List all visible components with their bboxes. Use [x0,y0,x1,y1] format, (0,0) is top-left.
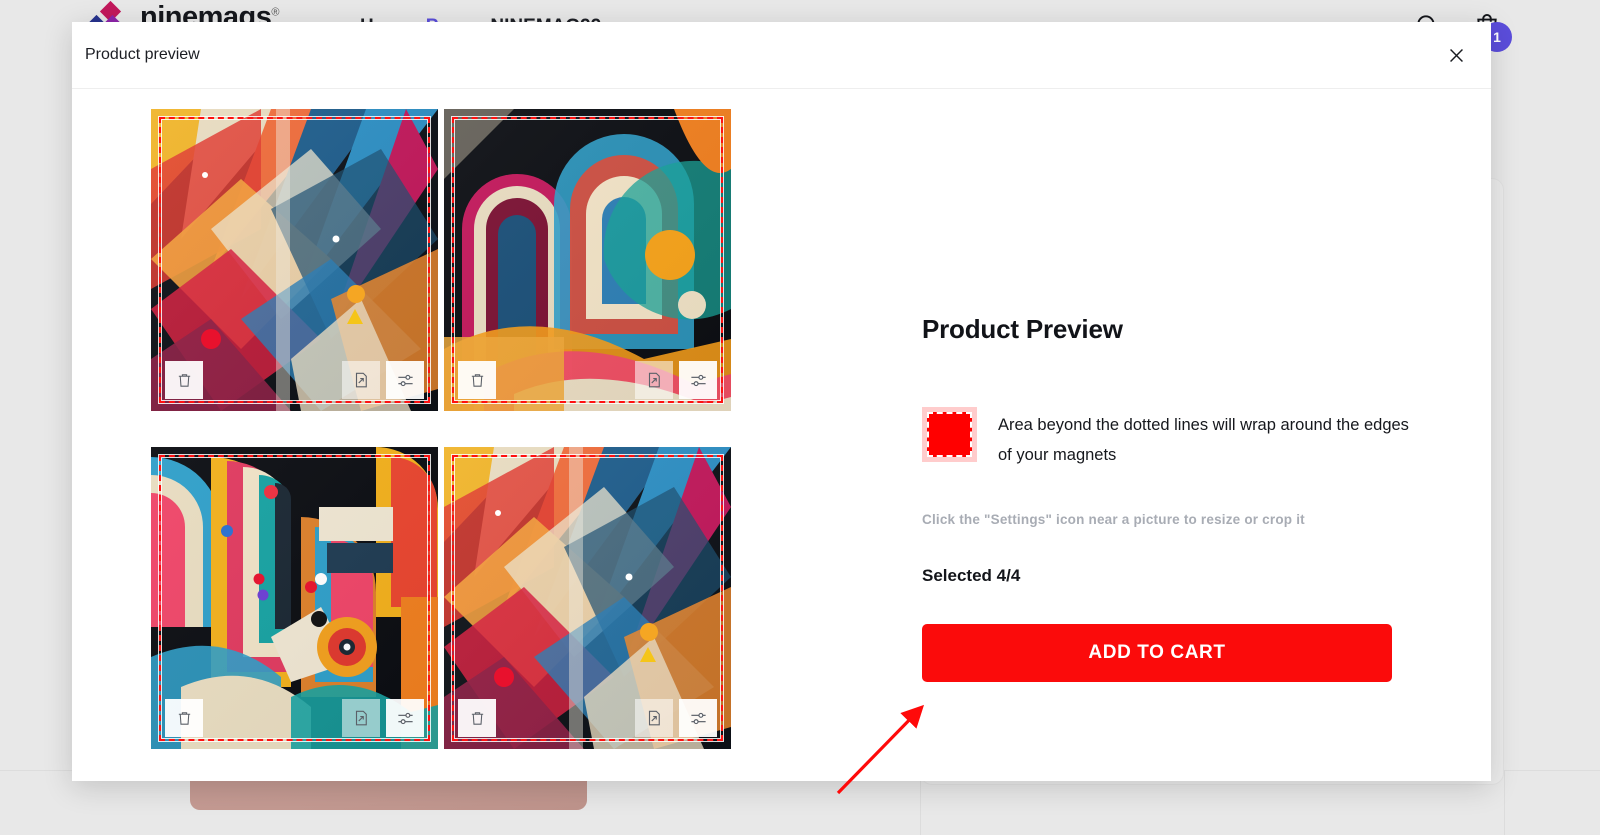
add-to-cart-button[interactable]: ADD TO CART [922,624,1392,682]
replace-image-icon[interactable] [635,699,673,737]
delete-icon[interactable] [165,699,203,737]
replace-image-icon[interactable] [635,361,673,399]
product-preview-modal: Product preview [72,22,1491,781]
replace-image-icon[interactable] [342,699,380,737]
bleed-color-swatch [922,407,977,462]
delete-icon[interactable] [165,361,203,399]
registered-mark: ® [271,6,279,18]
tile-tools-1 [151,361,438,399]
settings-sliders-icon[interactable] [386,361,424,399]
delete-icon[interactable] [458,699,496,737]
settings-sliders-icon[interactable] [386,699,424,737]
bleed-note-text: Area beyond the dotted lines will wrap a… [998,407,1418,470]
selected-count: Selected 4/4 [922,566,1422,586]
bleed-note: Area beyond the dotted lines will wrap a… [922,407,1422,470]
modal-body: Product Preview Area beyond the dotted l… [72,89,1491,781]
settings-hint: Click the "Settings" icon near a picture… [922,512,1422,527]
modal-title: Product preview [85,46,200,64]
magnet-preview-4[interactable] [444,447,731,749]
tile-tools-4 [444,699,731,737]
magnet-preview-1[interactable] [151,109,438,411]
close-icon[interactable] [1441,40,1471,70]
delete-icon[interactable] [458,361,496,399]
tile-tools-3 [151,699,438,737]
settings-sliders-icon[interactable] [679,699,717,737]
page-title: Product Preview [922,314,1422,345]
modal-header: Product preview [72,22,1491,89]
replace-image-icon[interactable] [342,361,380,399]
tile-tools-2 [444,361,731,399]
settings-sliders-icon[interactable] [679,361,717,399]
right-rail-divider [1504,770,1505,835]
magnet-preview-2[interactable] [444,109,731,411]
magnet-preview-3[interactable] [151,447,438,749]
product-info-panel: Product Preview Area beyond the dotted l… [922,314,1422,682]
magnet-preview-grid [151,109,737,749]
